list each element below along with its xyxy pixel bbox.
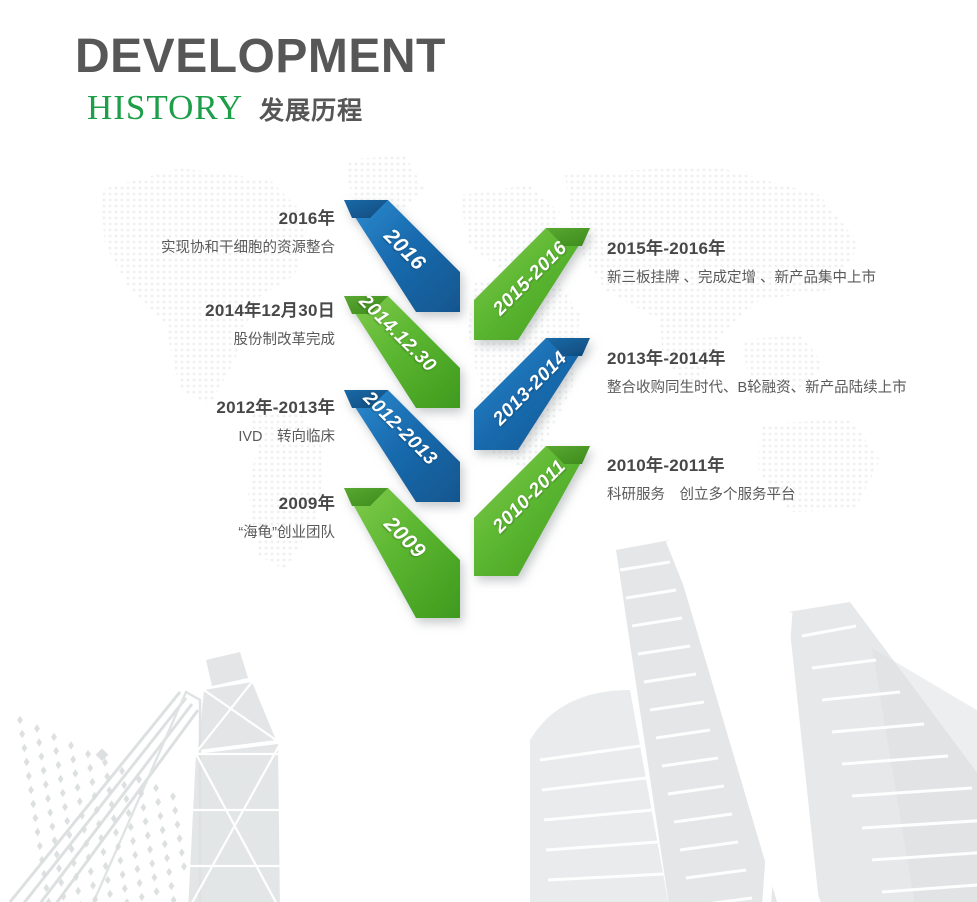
timeline-chevrons: 2016 2014.12.30 2012-2013 2009 2015-2016… — [0, 0, 977, 902]
chevron-arms-svg — [0, 0, 977, 902]
entry-description: 整合收购同生时代、B轮融资、新产品陆续上市 — [607, 378, 907, 399]
timeline-entry-left-2: 2014年12月30日 股份制改革完成 — [205, 300, 335, 351]
timeline-entry-left-3: 2012年-2013年 IVD 转向临床 — [216, 397, 335, 448]
entry-description: 新三板挂牌 、完成定增 、新产品集中上市 — [607, 268, 876, 289]
entry-description: IVD 转向临床 — [216, 427, 335, 448]
entry-year: 2013年-2014年 — [607, 348, 907, 371]
timeline-entry-left-1: 2016年 实现协和干细胞的资源整合 — [161, 208, 335, 259]
entry-year: 2010年-2011年 — [607, 455, 796, 478]
entry-year: 2015年-2016年 — [607, 238, 876, 261]
entry-description: 实现协和干细胞的资源整合 — [161, 238, 335, 259]
entry-description: 股份制改革完成 — [205, 330, 335, 351]
entry-year: 2012年-2013年 — [216, 397, 335, 420]
entry-year: 2016年 — [161, 208, 335, 231]
timeline-entry-left-4: 2009年 “海龟”创业团队 — [238, 493, 335, 544]
entry-description: 科研服务 创立多个服务平台 — [607, 485, 796, 506]
entry-year: 2009年 — [238, 493, 335, 516]
timeline-entry-right-2: 2013年-2014年 整合收购同生时代、B轮融资、新产品陆续上市 — [607, 348, 907, 399]
entry-description: “海龟”创业团队 — [238, 523, 335, 544]
timeline-entry-right-1: 2015年-2016年 新三板挂牌 、完成定增 、新产品集中上市 — [607, 238, 876, 289]
timeline-entry-right-3: 2010年-2011年 科研服务 创立多个服务平台 — [607, 455, 796, 506]
entry-year: 2014年12月30日 — [205, 300, 335, 323]
chevron-arm-right-3 — [474, 446, 590, 576]
